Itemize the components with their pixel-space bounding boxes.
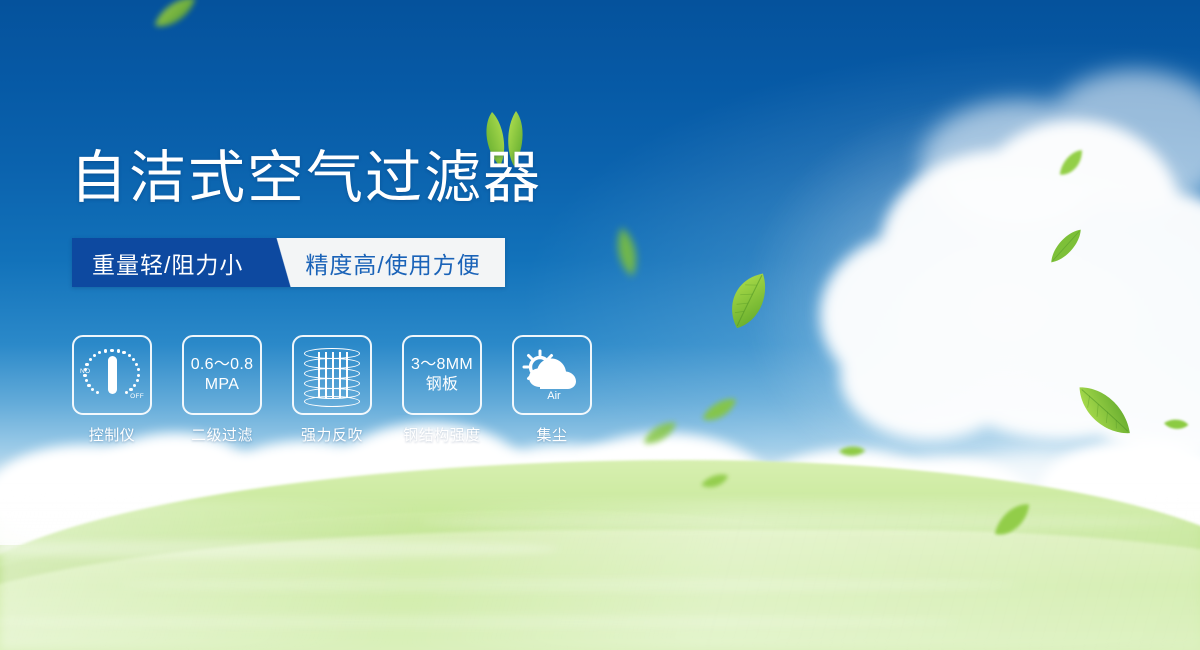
feature-icon-box: [292, 335, 372, 415]
feature-label: 钢结构强度: [403, 424, 481, 445]
subtitle-divider: [269, 238, 299, 287]
feature-icon-box: Air: [512, 335, 592, 415]
pressure-line-2: MPA: [191, 375, 254, 395]
feature-label: 强力反吹: [301, 424, 363, 445]
air-label: Air: [547, 390, 561, 402]
dial-gauge-icon: NO OFF: [81, 346, 143, 404]
dial-no-label: NO: [80, 368, 90, 375]
feature-label: 二级过滤: [191, 424, 253, 445]
steel-plate-text-icon: 3～8MM 钢板: [411, 355, 473, 395]
feature-label: 控制仪: [89, 424, 136, 445]
feature-icon-box: 3～8MM 钢板: [402, 335, 482, 415]
filter-rings-icon: [304, 346, 360, 404]
feature-item-controller[interactable]: NO OFF 控制仪: [72, 335, 152, 445]
subtitle-left: 重量轻/阻力小: [72, 238, 269, 287]
cloud-air-icon: Air: [521, 347, 583, 403]
feature-icon-box: 0.6～0.8 MPA: [182, 335, 262, 415]
feature-item-blowback[interactable]: 强力反吹: [292, 335, 372, 445]
feature-item-steel[interactable]: 3～8MM 钢板 钢结构强度: [402, 335, 482, 445]
steel-line-2: 钢板: [411, 375, 473, 395]
subtitle-right: 精度高/使用方便: [299, 238, 504, 287]
feature-list: NO OFF 控制仪 0.6～0.8 MPA 二级过滤: [72, 335, 592, 445]
banner-content: 自洁式空气过滤器 重量轻/阻力小 精度高/使用方便: [0, 0, 1200, 650]
pressure-text-icon: 0.6～0.8 MPA: [191, 355, 254, 395]
subtitle-bar: 重量轻/阻力小 精度高/使用方便: [72, 238, 505, 287]
feature-icon-box: NO OFF: [72, 335, 152, 415]
pressure-line-1: 0.6～0.8: [191, 355, 254, 375]
feature-label: 集尘: [536, 424, 567, 445]
page-title: 自洁式空气过滤器: [70, 143, 542, 213]
feature-item-pressure[interactable]: 0.6～0.8 MPA 二级过滤: [182, 335, 262, 445]
feature-item-dust[interactable]: Air 集尘: [512, 335, 592, 445]
dial-off-label: OFF: [130, 393, 144, 400]
hero-banner: 自洁式空气过滤器 重量轻/阻力小 精度高/使用方便: [0, 0, 1200, 650]
steel-line-1: 3～8MM: [411, 355, 473, 375]
